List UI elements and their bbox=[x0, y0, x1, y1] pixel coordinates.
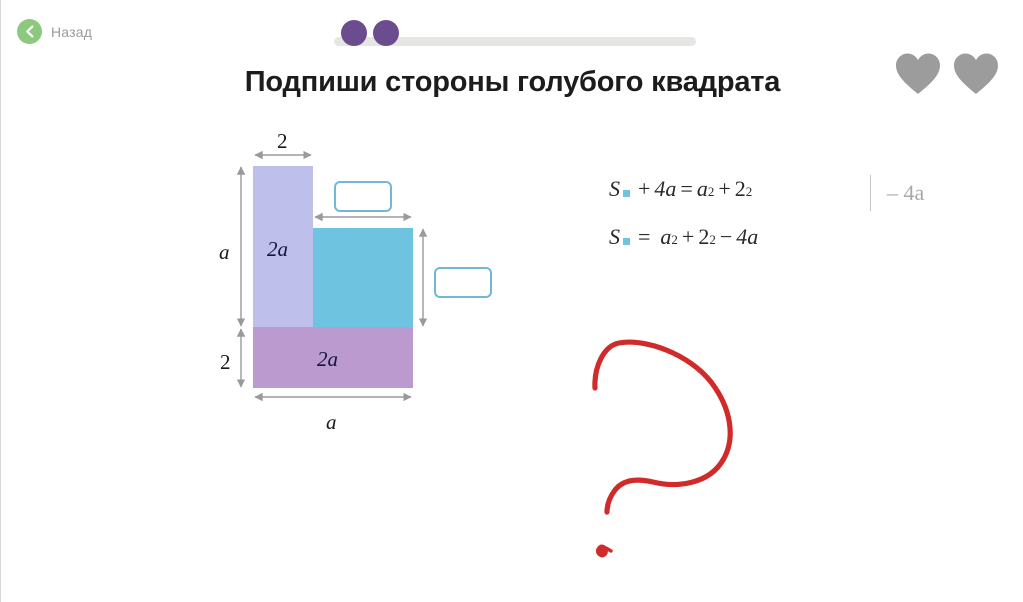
term-4a: 4a bbox=[736, 224, 758, 250]
blue-square bbox=[313, 228, 413, 327]
purple-rectangle-label: 2a bbox=[317, 347, 338, 372]
blue-square-glyph-icon bbox=[623, 238, 630, 245]
geometry-figure: 2a 2a 2 a 2 a bbox=[1, 0, 541, 460]
equation-symbol-S: S bbox=[609, 176, 620, 202]
term-2: 2 bbox=[735, 176, 746, 202]
answer-box-right[interactable] bbox=[434, 267, 492, 298]
operator-minus: − bbox=[716, 224, 736, 250]
lavender-rectangle-label: 2a bbox=[267, 237, 288, 262]
term-a: a bbox=[697, 176, 708, 202]
side-note-text: – 4a bbox=[887, 180, 924, 206]
equation-side-note: – 4a bbox=[870, 175, 924, 211]
term-a: a bbox=[654, 224, 671, 250]
operator-equals: = bbox=[676, 176, 696, 202]
dimension-left-lower: 2 bbox=[220, 350, 231, 375]
operator-plus: + bbox=[634, 176, 654, 202]
operator-equals: = bbox=[634, 224, 654, 250]
dimension-left-upper: a bbox=[219, 240, 230, 265]
side-note-divider bbox=[870, 175, 871, 211]
term-4a: 4a bbox=[654, 176, 676, 202]
term-2: 2 bbox=[698, 224, 709, 250]
red-question-mark-drawing bbox=[561, 320, 771, 570]
equation-line-1: S+4a=a2+22 bbox=[609, 176, 752, 202]
operator-plus: + bbox=[678, 224, 698, 250]
operator-plus-2: + bbox=[714, 176, 734, 202]
equation-symbol-S: S bbox=[609, 224, 620, 250]
blue-square-glyph-icon bbox=[623, 190, 630, 197]
dimension-bottom-width: a bbox=[326, 410, 337, 435]
app-screen: Назад Подпиши стороны голубого квадрата bbox=[0, 0, 1023, 602]
equation-line-2: S=a2+22−4a bbox=[609, 224, 758, 250]
exponent-2: 2 bbox=[746, 184, 753, 200]
answer-box-top[interactable] bbox=[334, 181, 392, 212]
dimension-top-width: 2 bbox=[277, 129, 288, 154]
